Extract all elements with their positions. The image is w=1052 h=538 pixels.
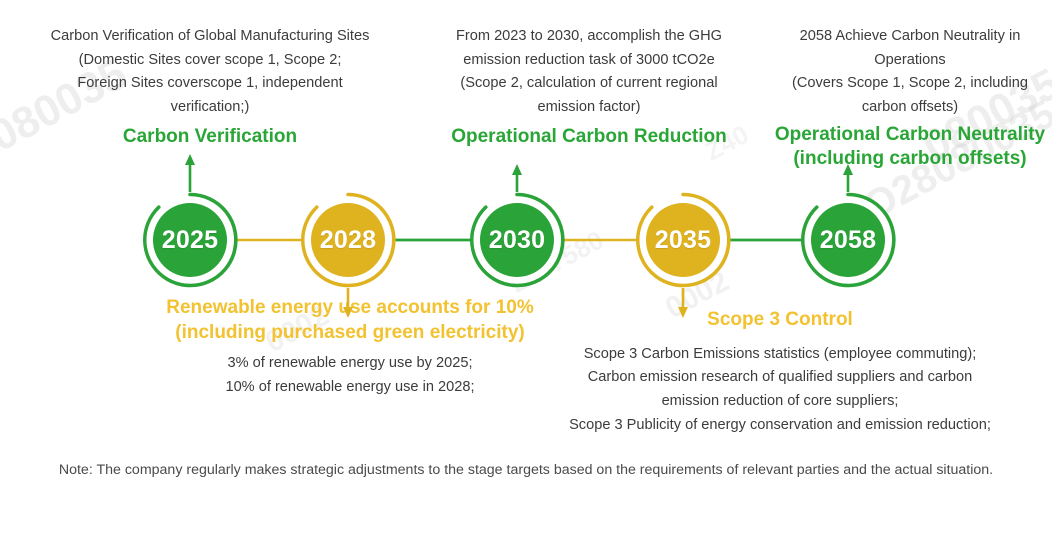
block-body-line: Scope 3 Publicity of energy conservation… (540, 414, 1020, 438)
arrow-up-2030 (512, 164, 522, 192)
milestone-year-2028: 2028 (311, 203, 385, 277)
milestone-block-carbon-verification: Carbon Verification of Global Manufactur… (0, 25, 420, 149)
block-heading-operational-carbon-neutrality-line1: Operational Carbon Neutrality (768, 123, 1052, 148)
block-body-line: emission factor) (410, 96, 768, 120)
block-heading-renewable-energy-line2: (including purchased green electricity) (148, 321, 552, 346)
block-body-line: emission reduction of core suppliers; (540, 390, 1020, 414)
block-body-line: (Covers Scope 1, Scope 2, including (768, 72, 1052, 96)
block-heading-carbon-verification: Carbon Verification (0, 125, 420, 150)
block-body-line: From 2023 to 2030, accomplish the GHG (410, 25, 768, 49)
block-heading-scope3-control: Scope 3 Control (540, 308, 1020, 333)
block-body-line: Scope 3 Carbon Emissions statistics (emp… (540, 343, 1020, 367)
milestone-node-2035[interactable]: 2035 (635, 192, 731, 288)
block-heading-operational-carbon-reduction: Operational Carbon Reduction (410, 125, 768, 150)
milestone-block-operational-carbon-neutrality: 2058 Achieve Carbon Neutrality in Operat… (768, 25, 1052, 172)
milestone-node-2030[interactable]: 2030 (469, 192, 565, 288)
block-body-line: Foreign Sites coverscope 1, independent (0, 72, 420, 96)
milestone-year-2025: 2025 (153, 203, 227, 277)
block-body-line: emission reduction task of 3000 tCO2e (410, 49, 768, 73)
footer-note: Note: The company regularly makes strate… (0, 462, 1052, 478)
block-body-line: Operations (768, 49, 1052, 73)
block-body-line: (Domestic Sites cover scope 1, Scope 2; (0, 49, 420, 73)
milestone-block-renewable-energy: Renewable energy use accounts for 10% (i… (148, 296, 552, 400)
milestone-year-2058: 2058 (811, 203, 885, 277)
milestone-block-scope3-control: Scope 3 Control Scope 3 Carbon Emissions… (540, 308, 1020, 437)
block-body-line: 3% of renewable energy use by 2025; (148, 352, 552, 376)
arrow-up-2025 (185, 154, 195, 192)
block-body-line: 10% of renewable energy use in 2028; (148, 376, 552, 400)
milestone-node-2025[interactable]: 2025 (142, 192, 238, 288)
milestone-year-2035: 2035 (646, 203, 720, 277)
milestone-node-2058[interactable]: 2058 (800, 192, 896, 288)
milestone-node-2028[interactable]: 2028 (300, 192, 396, 288)
block-body-line: Carbon emission research of qualified su… (540, 366, 1020, 390)
block-heading-operational-carbon-neutrality-line2: (including carbon offsets) (768, 147, 1052, 172)
block-body-line: Carbon Verification of Global Manufactur… (0, 25, 420, 49)
connector-2028-2030 (392, 236, 479, 244)
milestone-year-2030: 2030 (480, 203, 554, 277)
block-heading-renewable-energy-line1: Renewable energy use accounts for 10% (148, 296, 552, 321)
block-body-line: 2058 Achieve Carbon Neutrality in (768, 25, 1052, 49)
milestone-block-operational-carbon-reduction: From 2023 to 2030, accomplish the GHG em… (410, 25, 768, 149)
block-body-line: verification;) (0, 96, 420, 120)
connector-2030-2035 (561, 236, 644, 244)
block-body-line: (Scope 2, calculation of current regiona… (410, 72, 768, 96)
block-body-line: carbon offsets) (768, 96, 1052, 120)
connector-2035-2058 (727, 236, 810, 244)
